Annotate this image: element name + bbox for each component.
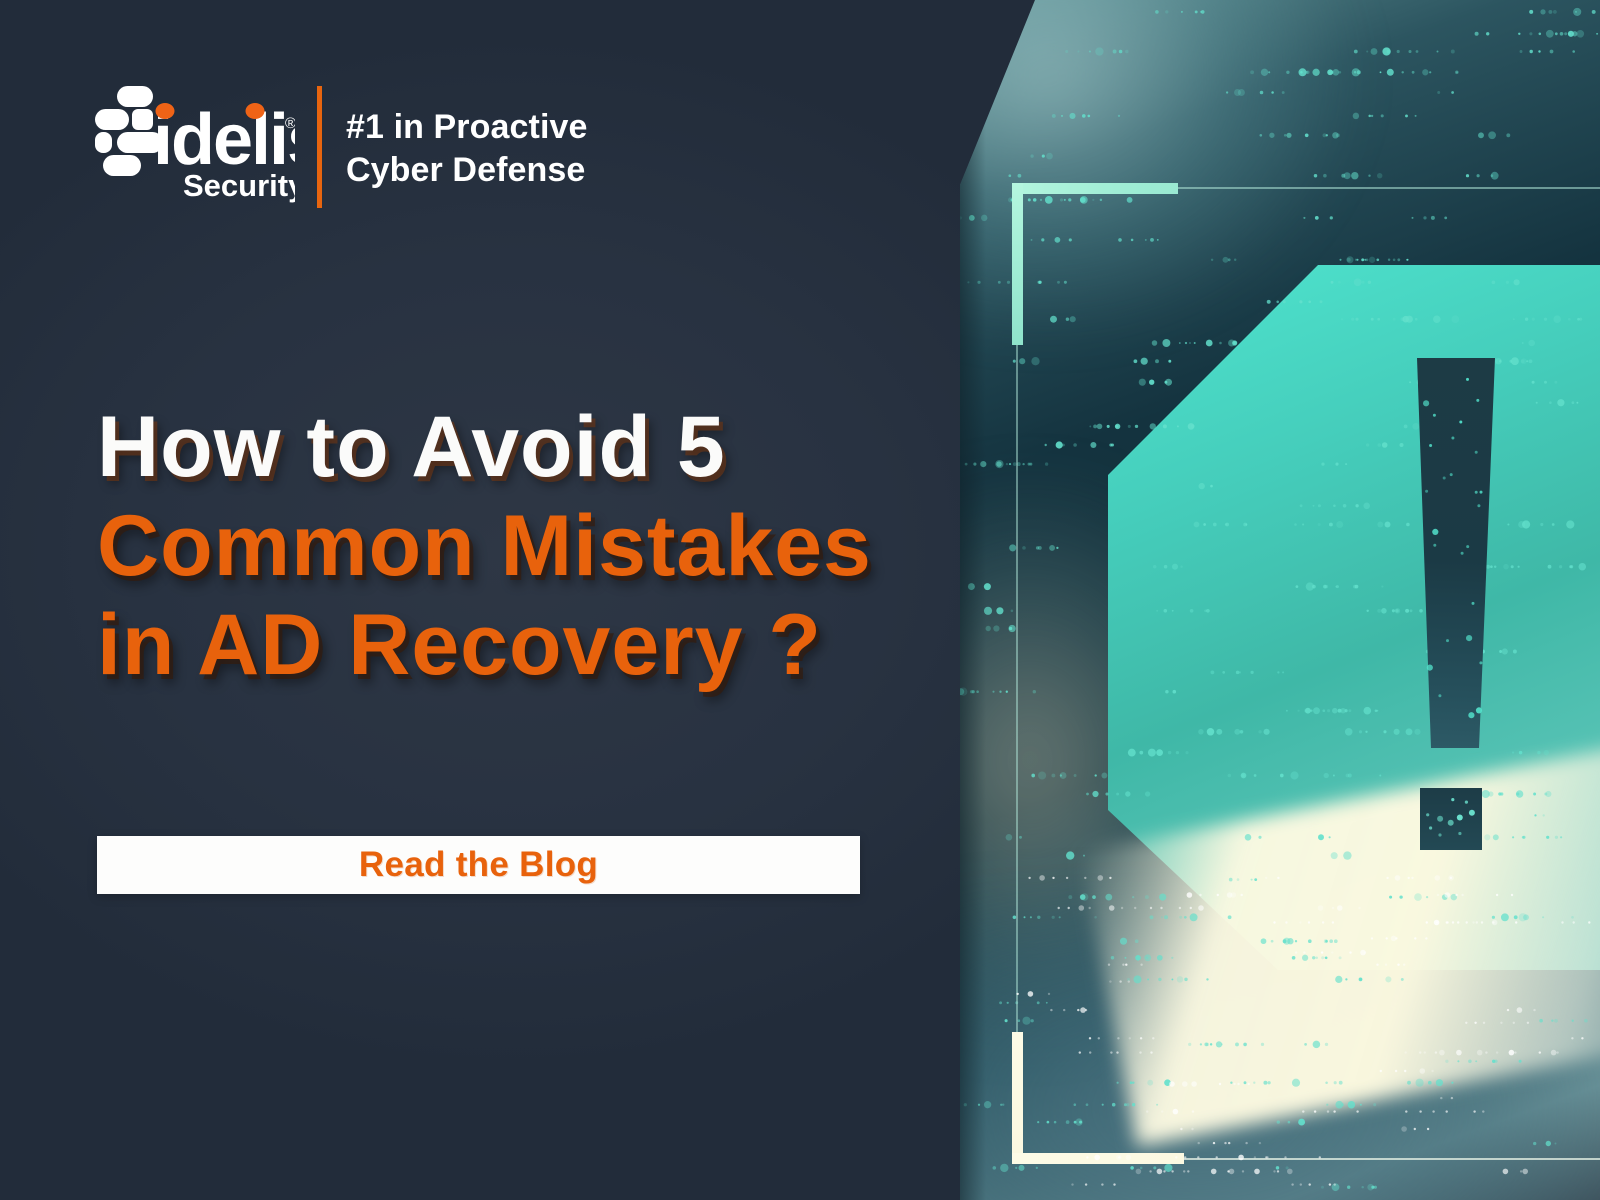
hairline-vertical <box>1016 345 1018 1035</box>
headline-line-2: Common Mistakes <box>97 497 927 596</box>
bracket-horizontal <box>1012 1153 1184 1164</box>
left-content-column: idelis ® Security #1 in Proactive Cyber … <box>0 0 960 1200</box>
exclamation-dot-icon <box>1420 788 1482 850</box>
bracket-horizontal <box>1012 183 1178 194</box>
promo-banner: idelis ® Security #1 in Proactive Cyber … <box>0 0 1600 1200</box>
headline: How to Avoid 5 Common Mistakes in AD Rec… <box>97 398 927 695</box>
bracket-vertical <box>1012 183 1023 345</box>
headline-line-1: How to Avoid 5 <box>97 398 927 497</box>
cta-label: Read the Blog <box>359 845 598 885</box>
brand-divider <box>317 86 322 208</box>
wordmark-security: Security <box>183 168 295 203</box>
brand-lockup[interactable]: idelis ® Security #1 in Proactive Cyber … <box>95 84 588 208</box>
orange-dot-l <box>246 103 265 119</box>
bracket-vertical <box>1012 1032 1023 1164</box>
artwork-panel <box>960 0 1600 1200</box>
fidelis-logo[interactable]: idelis ® Security <box>95 84 295 204</box>
panel-left-edge-shadow <box>960 0 986 1200</box>
fidelis-logo-svg: idelis ® Security <box>95 84 295 204</box>
hairline-top <box>1178 187 1600 189</box>
orange-dot-i <box>156 103 175 119</box>
corner-bracket-bottom-left <box>1012 1032 1184 1164</box>
brand-tagline: #1 in Proactive Cyber Defense <box>346 84 588 208</box>
headline-line-3: in AD Recovery ? <box>97 596 927 695</box>
read-the-blog-button[interactable]: Read the Blog <box>97 836 860 894</box>
corner-bracket-top-left <box>1012 183 1178 345</box>
hairline-bottom <box>1184 1158 1600 1160</box>
registered-mark-icon: ® <box>285 115 295 132</box>
